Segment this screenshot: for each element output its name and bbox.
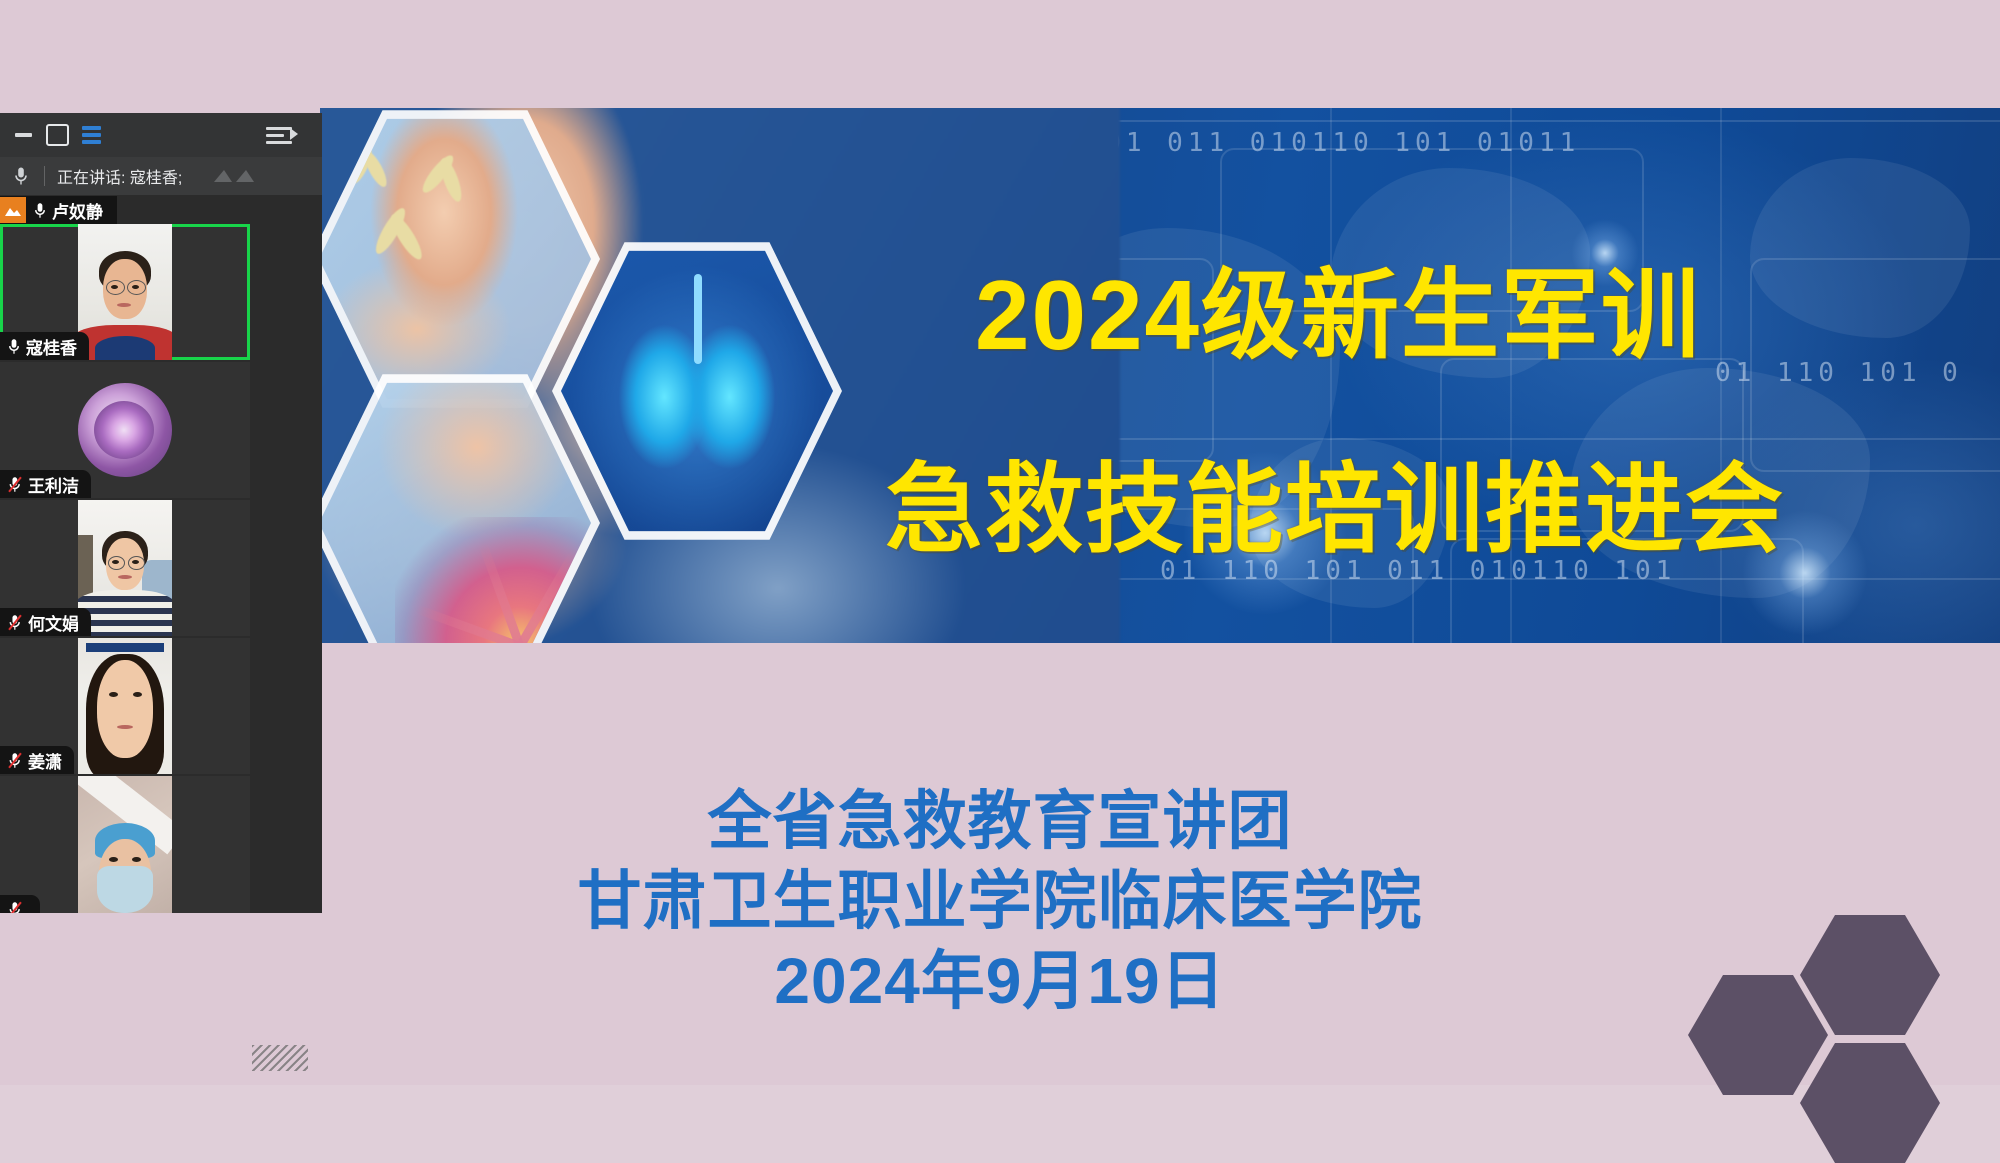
list-view-icon[interactable] [76, 120, 106, 150]
surgical-mask [97, 866, 153, 913]
trachea-shape [694, 274, 702, 364]
collapse-panel-icon[interactable] [266, 120, 300, 150]
participant-video [78, 224, 172, 360]
face-image [78, 776, 172, 913]
panel-resize-grip[interactable] [252, 1045, 308, 1071]
microphone-muted-icon [8, 752, 22, 769]
speaking-waveform-icon [212, 166, 262, 193]
slide-title-line2: 急救技能培训推进会 [885, 430, 1785, 572]
participant-avatar [78, 383, 172, 477]
microphone-muted-icon [8, 476, 22, 493]
minimize-icon[interactable] [8, 120, 38, 150]
participant-name-tag [0, 895, 40, 913]
participant-tile[interactable] [0, 776, 250, 913]
binary-text-row2: 01 110 101 0 [1715, 358, 1963, 388]
rose-avatar-art [94, 401, 154, 459]
lung-scan-hexagon-inner [561, 245, 833, 537]
slide-title-line1: 2024级新生军训 [975, 236, 1701, 378]
participant-name-tag: 王利洁 [0, 470, 91, 498]
participant-video [78, 500, 172, 636]
divider [44, 166, 45, 186]
microphone-icon [8, 338, 20, 355]
face-image [78, 500, 172, 636]
microphone-muted-icon [8, 901, 22, 914]
participant-name: 何文娟 [28, 610, 79, 635]
participant-name: 姜潇 [28, 748, 62, 773]
slide-subtitle-line3: 2024年9月19日 [0, 930, 2000, 1022]
microphone-icon [34, 202, 46, 219]
speaking-status-bar: 正在讲话: 寇桂香; [0, 157, 322, 195]
participant-name: 寇桂香 [26, 334, 77, 359]
participant-name-tag: 何文娟 [0, 608, 91, 636]
self-participant-tag: 卢奴静 [0, 196, 117, 224]
panel-toolbar [0, 113, 322, 157]
participant-name-tag: 姜潇 [0, 746, 74, 774]
maximize-icon[interactable] [42, 120, 72, 150]
face-image [78, 224, 172, 360]
image-avatar-icon [0, 197, 26, 223]
self-participant-name: 卢奴静 [52, 198, 103, 223]
participant-tile[interactable]: 姜潇 [0, 638, 250, 774]
participant-video [78, 776, 172, 913]
participant-name-tag: 寇桂香 [0, 332, 89, 360]
window-stripe [86, 643, 165, 652]
participant-video [78, 638, 172, 774]
microphone-icon [10, 166, 32, 186]
participant-tile[interactable]: 寇桂香 [0, 224, 250, 360]
participant-tile[interactable]: 何文娟 [0, 500, 250, 636]
microphone-muted-icon [8, 614, 22, 631]
decorative-hexagon-bottom [1800, 1043, 1940, 1163]
face-image [78, 638, 172, 774]
screen-root: 01 110 101 011 010110 101 01011 01 110 1… [0, 0, 2000, 1085]
participant-name: 王利洁 [28, 472, 79, 497]
participant-tile[interactable]: 王利洁 [0, 362, 250, 498]
speaking-status-text: 正在讲话: 寇桂香; [57, 164, 182, 188]
